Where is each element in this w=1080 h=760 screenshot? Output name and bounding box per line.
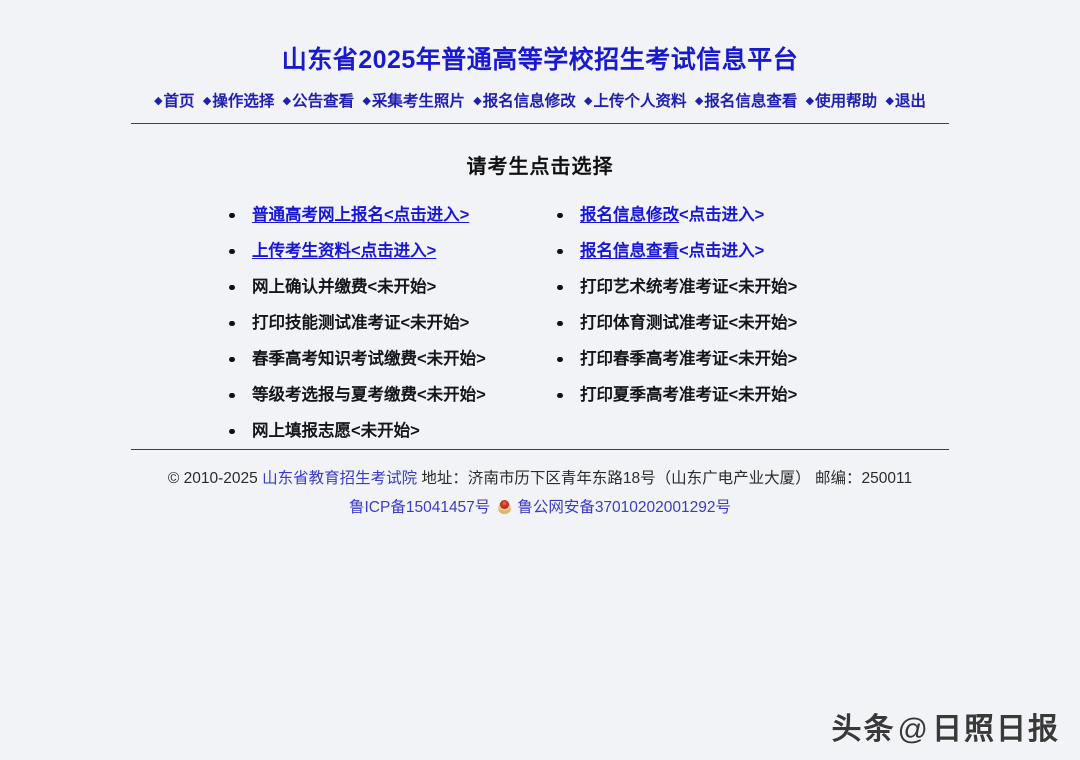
option-disabled: 打印春季高考准考证<未开始> <box>580 350 797 368</box>
address-text: 济南市历下区青年东路18号（山东广电产业大厦） <box>468 470 811 487</box>
options-column-right: 报名信息修改<点击进入>报名信息查看<点击进入>打印艺术统考准考证<未开始>打印… <box>548 197 878 449</box>
list-item: 打印技能测试准考证<未开始> <box>220 305 548 341</box>
list-item: 网上填报志愿<未开始> <box>220 413 548 449</box>
police-beian-link[interactable]: 鲁公网安备37010202001292号 <box>517 499 731 516</box>
option-label: 春季高考知识考试缴费 <box>252 350 417 368</box>
nav-item-8[interactable]: ◆退出 <box>885 92 925 112</box>
site-footer: © 2010-2025 山东省教育招生考试院 地址：济南市历下区青年东路18号（… <box>0 465 1080 523</box>
nav-item-4[interactable]: ◆报名信息修改 <box>473 92 575 112</box>
option-link[interactable]: 报名信息修改<点击进入> <box>580 206 764 224</box>
nav-item-1[interactable]: ◆操作选择 <box>203 92 274 112</box>
option-label: 上传考生资料 <box>252 242 351 260</box>
address-label: 地址： <box>421 470 468 487</box>
nav-item-label: 公告查看 <box>292 93 354 110</box>
postcode-label: 邮编： <box>815 470 862 487</box>
diamond-bullet-icon: ◆ <box>283 95 291 107</box>
option-status: <未开始> <box>729 386 798 404</box>
watermark-at: @ <box>898 713 930 746</box>
option-label: 打印艺术统考准考证 <box>580 278 729 296</box>
option-label: 打印技能测试准考证 <box>252 314 401 332</box>
option-status: <未开始> <box>368 278 437 296</box>
nav-item-label: 采集考生照片 <box>372 93 465 110</box>
option-label: 报名信息修改 <box>580 206 679 224</box>
nav-item-7[interactable]: ◆使用帮助 <box>806 92 877 112</box>
option-disabled: 春季高考知识考试缴费<未开始> <box>252 350 486 368</box>
page-root: 山东省2025年普通高等学校招生考试信息平台 ◆首页 ◆操作选择 ◆公告查看 ◆… <box>0 17 1080 760</box>
option-disabled: 等级考选报与夏考缴费<未开始> <box>252 386 486 404</box>
option-disabled: 打印技能测试准考证<未开始> <box>252 314 469 332</box>
nav-item-3[interactable]: ◆采集考生照片 <box>362 92 464 112</box>
option-label: 打印夏季高考准考证 <box>580 386 729 404</box>
list-item[interactable]: 上传考生资料<点击进入> <box>220 233 548 269</box>
option-link[interactable]: 报名信息查看<点击进入> <box>580 242 764 260</box>
icp-link[interactable]: 鲁ICP备15041457号 <box>349 499 490 516</box>
police-badge-icon <box>496 497 513 514</box>
footer-beian-line: 鲁ICP备15041457号鲁公网安备37010202001292号 <box>0 494 1080 523</box>
option-disabled: 打印艺术统考准考证<未开始> <box>580 278 797 296</box>
diamond-bullet-icon: ◆ <box>154 95 162 107</box>
diamond-bullet-icon: ◆ <box>885 95 893 107</box>
option-label: 等级考选报与夏考缴费 <box>252 386 417 404</box>
option-label: 网上填报志愿 <box>252 422 351 440</box>
list-item[interactable]: 报名信息修改<点击进入> <box>548 197 878 233</box>
header-divider <box>131 123 949 124</box>
option-status: <点击进入> <box>679 206 764 224</box>
option-link[interactable]: 上传考生资料<点击进入> <box>252 242 436 260</box>
nav-item-label: 使用帮助 <box>815 93 877 110</box>
nav-item-5[interactable]: ◆上传个人资料 <box>584 92 686 112</box>
option-label: 普通高考网上报名 <box>252 206 384 224</box>
main-content: 请考生点击选择 普通高考网上报名<点击进入>上传考生资料<点击进入>网上确认并缴… <box>0 150 1080 449</box>
nav-item-2[interactable]: ◆公告查看 <box>283 92 354 112</box>
diamond-bullet-icon: ◆ <box>203 95 211 107</box>
nav-item-6[interactable]: ◆报名信息查看 <box>695 92 797 112</box>
diamond-bullet-icon: ◆ <box>362 95 370 107</box>
option-disabled: 网上填报志愿<未开始> <box>252 422 420 440</box>
nav-item-label: 报名信息查看 <box>704 93 797 110</box>
footer-divider <box>131 449 949 450</box>
option-status: <点击进入> <box>384 206 469 224</box>
site-header: 山东省2025年普通高等学校招生考试信息平台 ◆首页 ◆操作选择 ◆公告查看 ◆… <box>0 17 1080 124</box>
nav-item-label: 退出 <box>895 93 926 110</box>
diamond-bullet-icon: ◆ <box>584 95 592 107</box>
diamond-bullet-icon: ◆ <box>806 95 814 107</box>
option-label: 报名信息查看 <box>580 242 679 260</box>
option-status: <未开始> <box>729 314 798 332</box>
watermark: 头条@日照日报 <box>832 704 1060 748</box>
option-disabled: 打印夏季高考准考证<未开始> <box>580 386 797 404</box>
postcode-value: 250011 <box>862 470 913 487</box>
option-status: <未开始> <box>417 350 486 368</box>
list-item[interactable]: 普通高考网上报名<点击进入> <box>220 197 548 233</box>
list-item: 打印艺术统考准考证<未开始> <box>548 269 878 305</box>
list-item: 打印夏季高考准考证<未开始> <box>548 377 878 413</box>
watermark-brand: 头条 <box>832 713 896 746</box>
page-title: 山东省2025年普通高等学校招生考试信息平台 <box>0 17 1080 75</box>
list-item: 春季高考知识考试缴费<未开始> <box>220 341 548 377</box>
option-label: 打印春季高考准考证 <box>580 350 729 368</box>
section-title: 请考生点击选择 <box>0 150 1080 179</box>
list-item: 打印体育测试准考证<未开始> <box>548 305 878 341</box>
options-column-left: 普通高考网上报名<点击进入>上传考生资料<点击进入>网上确认并缴费<未开始>打印… <box>220 197 548 449</box>
diamond-bullet-icon: ◆ <box>473 95 481 107</box>
nav-item-0[interactable]: ◆首页 <box>154 92 194 112</box>
nav-item-label: 上传个人资料 <box>594 93 687 110</box>
option-status: <点击进入> <box>679 242 764 260</box>
option-status: <未开始> <box>401 314 470 332</box>
diamond-bullet-icon: ◆ <box>695 95 703 107</box>
option-status: <未开始> <box>351 422 420 440</box>
nav-item-label: 首页 <box>164 93 195 110</box>
option-disabled: 打印体育测试准考证<未开始> <box>580 314 797 332</box>
option-disabled: 网上确认并缴费<未开始> <box>252 278 436 296</box>
list-item: 等级考选报与夏考缴费<未开始> <box>220 377 548 413</box>
list-item[interactable]: 报名信息查看<点击进入> <box>548 233 878 269</box>
copyright-text: © 2010-2025 <box>168 470 258 487</box>
option-status: <未开始> <box>729 350 798 368</box>
watermark-account: 日照日报 <box>932 713 1060 746</box>
option-status: <未开始> <box>729 278 798 296</box>
options-list-left: 普通高考网上报名<点击进入>上传考生资料<点击进入>网上确认并缴费<未开始>打印… <box>220 197 548 449</box>
options-columns: 普通高考网上报名<点击进入>上传考生资料<点击进入>网上确认并缴费<未开始>打印… <box>0 197 1080 449</box>
option-label: 打印体育测试准考证 <box>580 314 729 332</box>
option-status: <未开始> <box>417 386 486 404</box>
nav-item-label: 报名信息修改 <box>483 93 576 110</box>
list-item: 打印春季高考准考证<未开始> <box>548 341 878 377</box>
main-navigation: ◆首页 ◆操作选择 ◆公告查看 ◆采集考生照片 ◆报名信息修改 ◆上传个人资料 … <box>0 92 1080 112</box>
list-item: 网上确认并缴费<未开始> <box>220 269 548 305</box>
options-list-right: 报名信息修改<点击进入>报名信息查看<点击进入>打印艺术统考准考证<未开始>打印… <box>548 197 878 413</box>
option-link[interactable]: 普通高考网上报名<点击进入> <box>252 206 469 224</box>
option-status: <点击进入> <box>351 242 436 260</box>
nav-item-label: 操作选择 <box>212 93 274 110</box>
organization-link[interactable]: 山东省教育招生考试院 <box>262 470 417 487</box>
footer-info-line: © 2010-2025 山东省教育招生考试院 地址：济南市历下区青年东路18号（… <box>0 465 1080 494</box>
option-label: 网上确认并缴费 <box>252 278 368 296</box>
